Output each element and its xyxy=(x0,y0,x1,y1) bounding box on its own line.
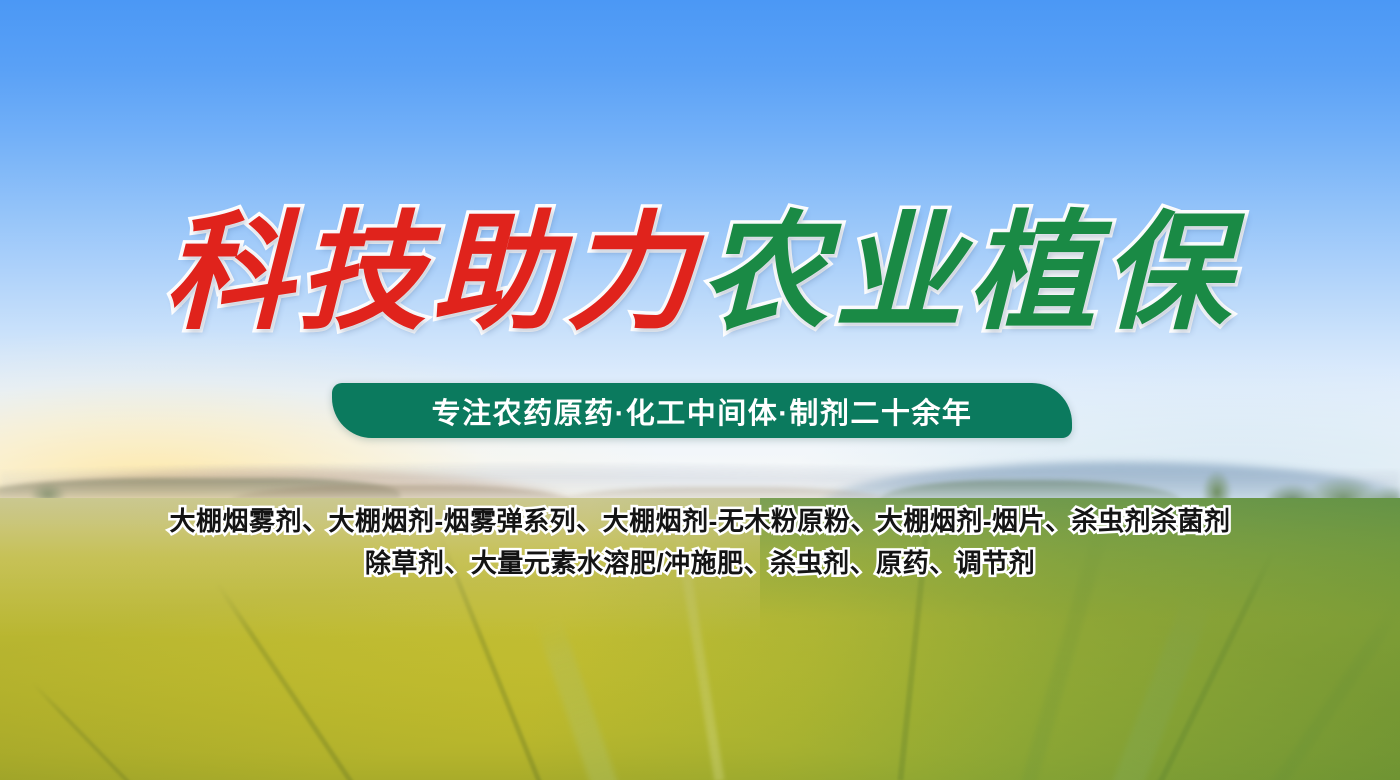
product-list: 大棚烟雾剂、大棚烟剂-烟雾弹系列、大棚烟剂-无木粉原粉、大棚烟剂-烟片、杀虫剂杀… xyxy=(0,500,1400,584)
product-line-1: 大棚烟雾剂、大棚烟剂-烟雾弹系列、大棚烟剂-无木粉原粉、大棚烟剂-烟片、杀虫剂杀… xyxy=(0,500,1400,542)
headline: 科技助力农业植保 xyxy=(0,204,1400,342)
subtitle-pill: 专注农药原药·化工中间体·制剂二十余年 xyxy=(332,383,1072,438)
headline-part-green: 农业植保 xyxy=(700,204,1236,342)
subtitle-pill-text: 专注农药原药·化工中间体·制剂二十余年 xyxy=(432,390,973,432)
product-line-2: 除草剂、大量元素水溶肥/冲施肥、杀虫剂、原药、调节剂 xyxy=(0,542,1400,584)
promo-banner: 科技助力农业植保 专注农药原药·化工中间体·制剂二十余年 大棚烟雾剂、大棚烟剂-… xyxy=(0,0,1400,780)
headline-part-red: 科技助力 xyxy=(164,204,700,342)
